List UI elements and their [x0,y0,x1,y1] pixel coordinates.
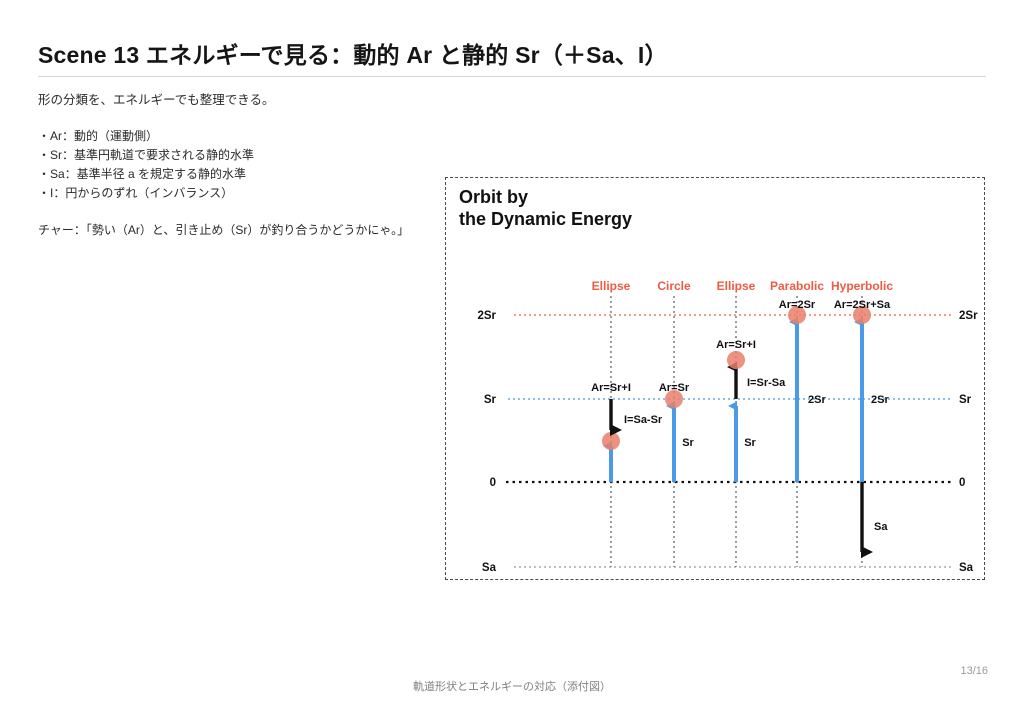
span-label-hyperbolic: 2Sr [871,394,889,406]
column-header-parabolic: Parabolic [770,279,824,293]
level-label-right-sr: Sr [959,394,972,406]
marker-label-ellipse-2: Ar=Sr+I [716,339,756,351]
list-item: ・Ar：動的（運動側） [38,127,254,146]
delta-label-ellipse-2: I=Sr-Sa [747,377,786,389]
level-label-left-2sr: 2Sr [477,310,496,322]
definition-list: ・Ar：動的（運動側） ・Sr：基準円軌道で要求される静的水準 ・Sa：基準半径… [38,127,254,203]
column-ellipse-2: Ar=Sr+I I=Sr-Sa Sr [716,339,786,482]
column-circle: Ar=Sr Sr [659,382,695,482]
figure-frame: Orbit by the Dynamic Energy 2Sr Sr 0 Sa … [445,177,985,580]
energy-level-diagram: 2Sr Sr 0 Sa 2Sr Sr 0 Sa [446,178,986,581]
marker-label-parabolic: Ar=2Sr [779,299,816,311]
column-header-ellipse-2: Ellipse [717,279,756,293]
list-item: ・I：円からのずれ（インバランス） [38,184,254,203]
level-label-left-sa: Sa [482,562,497,574]
span-label-parabolic: 2Sr [808,394,826,406]
page-number: 13/16 [960,665,988,677]
marker-label-ellipse-1: Ar=Sr+I [591,382,631,394]
column-header-circle: Circle [657,279,691,293]
marker-label-hyperbolic: Ar=2Sr+Sa [834,299,891,311]
footer-caption: 軌道形状とエネルギーの対応（添付図） [0,678,1024,694]
level-label-right-2sr: 2Sr [959,310,978,322]
level-label-left-0: 0 [490,477,496,489]
column-header-ellipse: Ellipse [592,279,631,293]
title-divider [38,76,986,77]
span-label-circle: Sr [682,437,694,449]
marker-label-circle: Ar=Sr [659,382,690,394]
list-item: ・Sr：基準円軌道で要求される静的水準 [38,146,254,165]
span-label-ellipse-2: Sr [744,437,756,449]
sa-label-hyperbolic: Sa [874,521,888,533]
column-parabolic: Ar=2Sr 2Sr [779,299,827,482]
delta-label-ellipse-1: I=Sa-Sr [624,414,663,426]
list-item: ・Sa：基準半径 a を規定する静的水準 [38,165,254,184]
level-label-right-sa: Sa [959,562,974,574]
column-ellipse-1: Ar=Sr+I I=Sa-Sr [591,382,663,482]
page-title: Scene 13 エネルギーで見る：動的 Ar と静的 Sr（＋Sa、I） [38,36,668,70]
marker-dot-ellipse-2 [727,351,745,369]
level-label-left-sr: Sr [484,394,497,406]
marker-dot-ellipse-1 [602,432,620,450]
character-quote: チャー：「勢い（Ar）と、引き止め（Sr）が釣り合うかどうかにゃ。」 [38,221,428,240]
column-hyperbolic: Ar=2Sr+Sa 2Sr Sa [834,299,891,552]
level-label-right-0: 0 [959,477,965,489]
column-header-hyperbolic: Hyperbolic [831,279,893,293]
lede-paragraph: 形の分類を、エネルギーでも整理できる。 [38,91,275,110]
